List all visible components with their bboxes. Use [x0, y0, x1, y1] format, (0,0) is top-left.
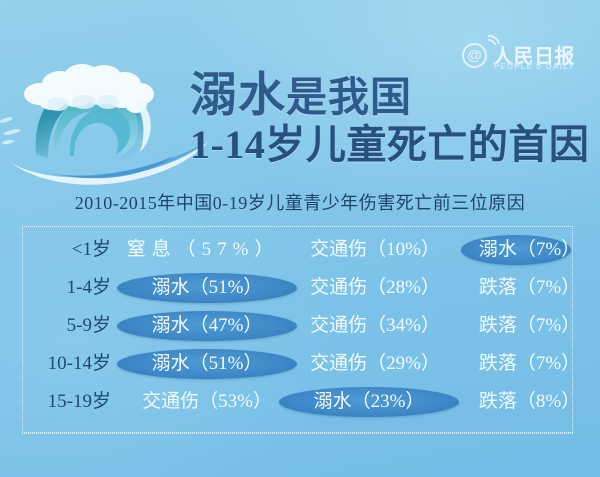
table-row: 15-19岁交通伤（53%）溺水（23%）跌落（8%） [23, 383, 574, 421]
cause-cell: 跌落（7%） [467, 269, 592, 307]
cause-cell: 窒息（57%） [123, 231, 283, 269]
headline-line-1: 溺水是我国 [190, 72, 590, 121]
table-row: 5-9岁溺水（47%）交通伤（34%）跌落（7%） [23, 307, 574, 345]
table-row: <1岁窒息（57%）交通伤（10%）溺水（7%） [23, 231, 574, 269]
cause-cell: 跌落（7%） [467, 345, 592, 383]
headline-line-1-rest: 是我国 [286, 74, 412, 120]
cause-cell: 交通伤（29%） [295, 345, 455, 383]
age-group-label: 5-9岁 [23, 307, 111, 345]
subtitle: 2010-2015年中国0-19岁儿童青少年伤害死亡前三位原因 [0, 189, 600, 215]
infographic-poster: @ 人民日报 PEOPLE'S DAILY 溺水是我国 1-14岁儿童死亡的首因… [0, 0, 600, 477]
cause-cell: 交通伤（53%） [127, 383, 287, 421]
cause-cell-highlighted: 溺水（7%） [467, 231, 592, 269]
age-group-label: 10-14岁 [23, 345, 111, 383]
cause-cell-highlighted: 溺水（23%） [281, 383, 457, 421]
headline-line-2: 1-14岁儿童死亡的首因 [190, 121, 590, 169]
headline-emphasis: 溺水 [190, 70, 286, 122]
bottom-divider [22, 433, 573, 434]
cause-cell: 交通伤（10%） [295, 231, 455, 269]
table-row: 1-4岁溺水（51%）交通伤（28%）跌落（7%） [23, 269, 574, 307]
logo-en-name: PEOPLE'S DAILY [494, 62, 575, 71]
age-group-label: 1-4岁 [23, 269, 111, 307]
cause-cell: 交通伤（28%） [295, 269, 455, 307]
peoples-daily-logo: @ 人民日报 PEOPLE'S DAILY [462, 40, 590, 76]
causes-table: <1岁窒息（57%）交通伤（10%）溺水（7%）1-4岁溺水（51%）交通伤（2… [22, 226, 573, 433]
age-group-label: 15-19岁 [23, 383, 111, 421]
cause-cell-highlighted: 溺水（51%） [119, 345, 295, 383]
cause-cell: 交通伤（34%） [295, 307, 455, 345]
age-group-label: <1岁 [23, 231, 111, 269]
headline: 溺水是我国 1-14岁儿童死亡的首因 [190, 72, 590, 169]
cause-cell-highlighted: 溺水（47%） [119, 307, 295, 345]
table-row: 10-14岁溺水（51%）交通伤（29%）跌落（7%） [23, 345, 574, 383]
cause-cell: 跌落（7%） [467, 307, 592, 345]
cause-cell-highlighted: 溺水（51%） [119, 269, 295, 307]
ocean-wave-icon [0, 42, 211, 192]
cause-cell: 跌落（8%） [467, 383, 592, 421]
